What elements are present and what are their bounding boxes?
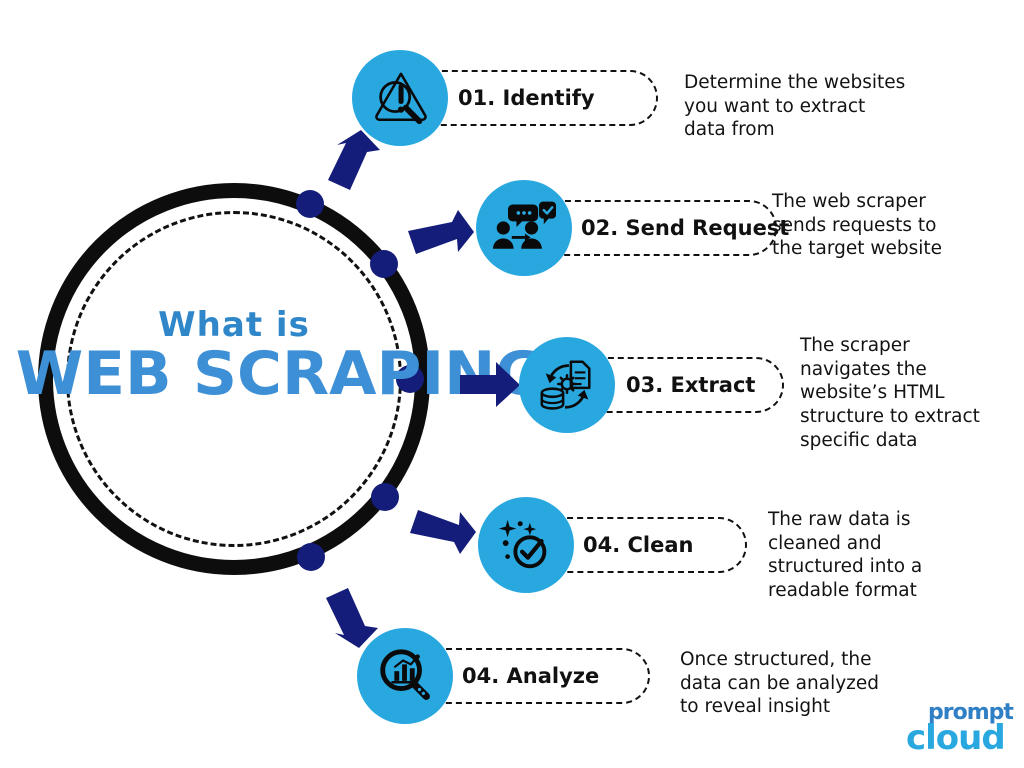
step-5-label: 04. Analyze [462, 664, 599, 688]
step-3-label: 03. Extract [626, 373, 755, 397]
step-1-bubble[interactable] [352, 50, 448, 146]
magnifier-barchart-icon [375, 646, 435, 706]
database-gear-document-icon [536, 354, 598, 416]
center-circle: What is WEB SCRAPING [38, 183, 430, 575]
step-2-label: 02. Send Request [581, 216, 789, 240]
step-2-bubble[interactable] [476, 180, 572, 276]
warning-magnifier-icon [369, 67, 431, 129]
step-5-bubble[interactable] [357, 628, 453, 724]
people-chat-request-icon [492, 198, 556, 258]
step-1-description: Determine the websites you want to extra… [684, 71, 984, 142]
step-3-bubble[interactable] [519, 337, 615, 433]
step-1-label: 01. Identify [458, 86, 595, 110]
step-2-description: The web scraper sends requests to the ta… [772, 190, 1022, 261]
arrow-to-step-4 [408, 498, 478, 556]
ring-node-2 [370, 250, 398, 278]
step-4-label: 04. Clean [583, 533, 694, 557]
arrow-to-step-3 [460, 362, 522, 408]
step-3-description: The scraper navigates the website’s HTML… [800, 334, 1024, 452]
ring-node-3 [396, 365, 424, 393]
sparkle-check-icon [496, 515, 556, 575]
logo-cloud-text: cloud [906, 718, 1005, 758]
ring-node-4 [371, 483, 399, 511]
infographic-canvas: What is WEB SCRAPING 01. Identify [0, 0, 1024, 768]
promptcloud-logo[interactable]: prompt cloud [900, 700, 1012, 758]
ring-node-5 [297, 543, 325, 571]
inner-dashed-ring [66, 211, 402, 547]
step-4-bubble[interactable] [478, 497, 574, 593]
step-4-description: The raw data is cleaned and structured i… [768, 508, 1024, 603]
arrow-to-step-2 [406, 208, 476, 266]
